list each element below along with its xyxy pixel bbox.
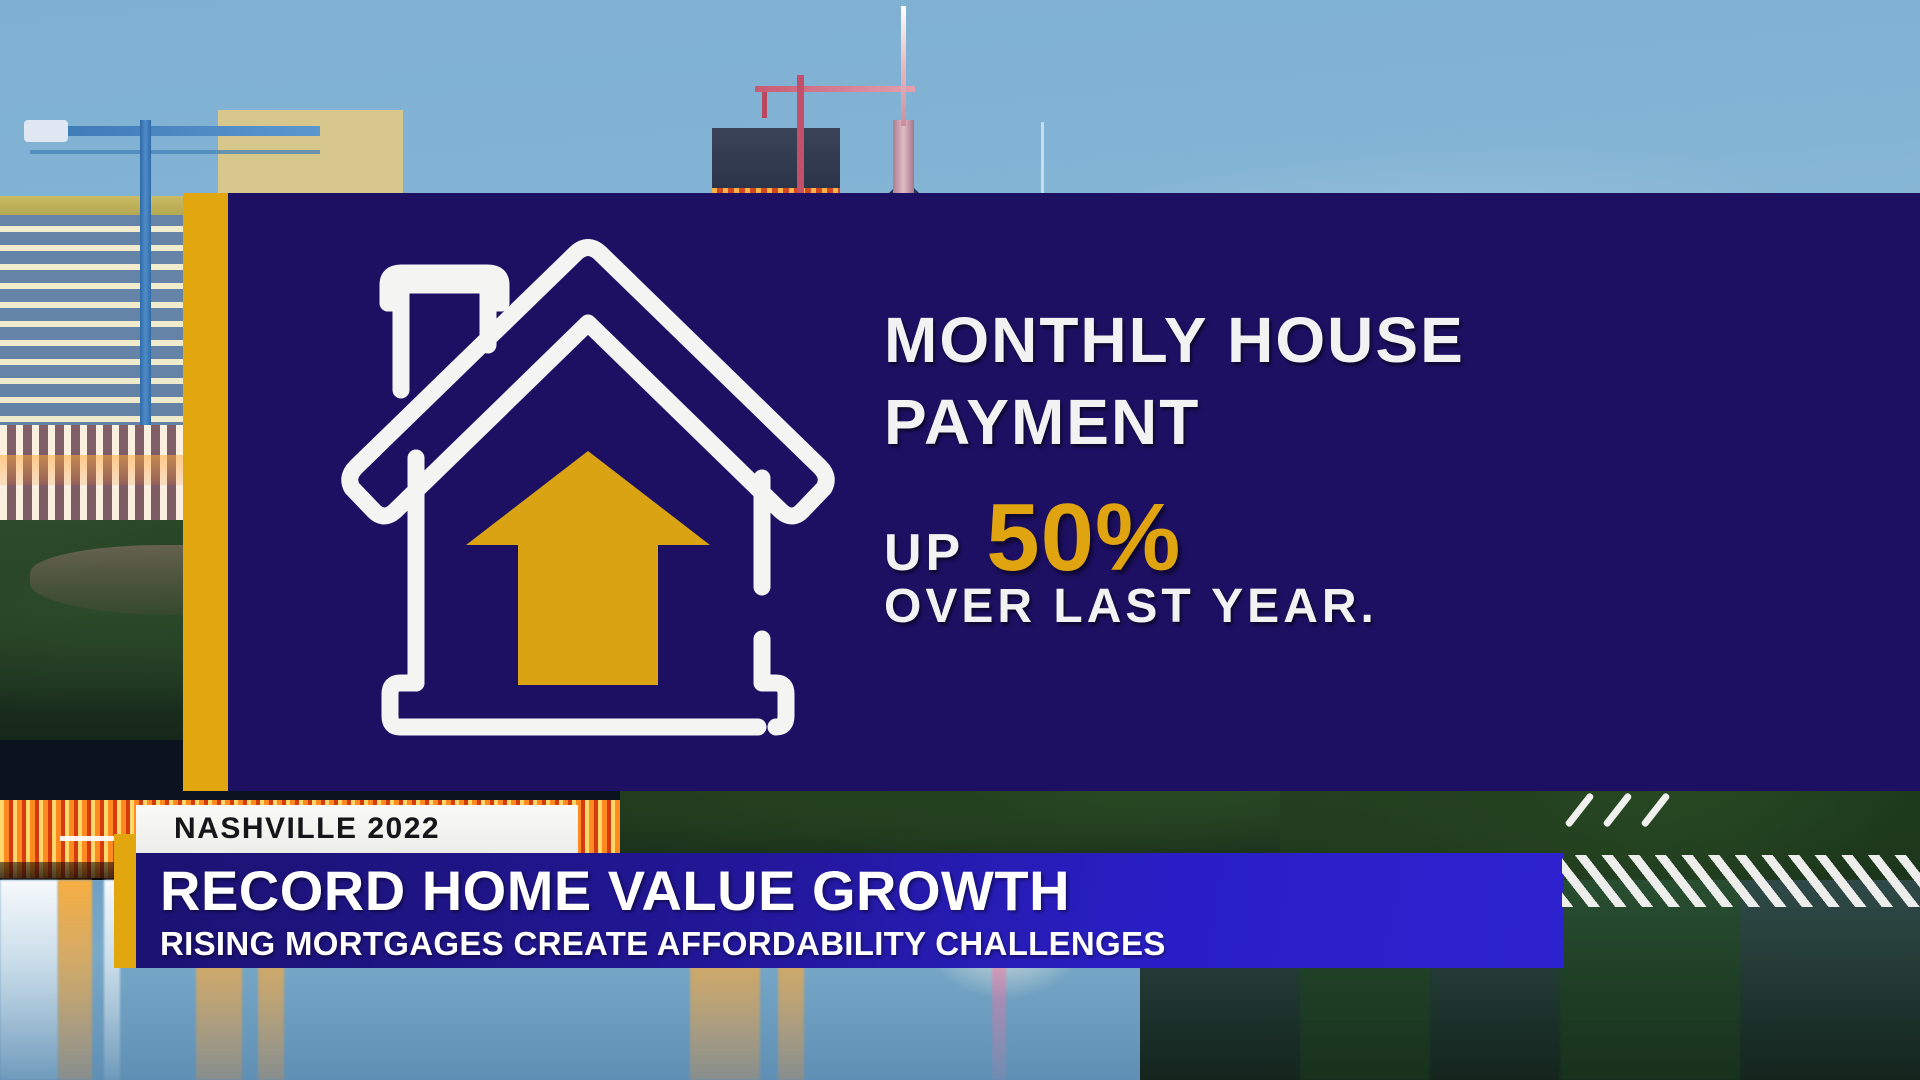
house-with-up-arrow-icon [338,215,838,775]
construction-crane-center-hook [762,92,767,118]
stat-value: 50% [986,492,1181,583]
stat-suffix: OVER LAST YEAR. [884,579,1884,634]
att-building-spire-shaft [893,120,914,200]
att-building-antenna-needle [901,6,906,126]
broadcast-graphic-stage: MONTHLY HOUSE PAYMENT UP 50% OVER LAST Y… [0,0,1920,1080]
headline-line-2: PAYMENT [884,382,1884,464]
location-tag-tab: NASHVILLE 2022 [136,805,578,853]
stat-row: UP 50% [884,492,1884,583]
river-reflection [0,880,58,1080]
diagonal-dash [1602,792,1632,828]
lower-third-gold-accent [114,834,136,968]
diagonal-dash-group [1570,790,1690,830]
construction-tower-frame [712,128,840,192]
location-tag-label: NASHVILLE 2022 [174,812,440,846]
headline-line-1: MONTHLY HOUSE [884,300,1884,382]
lower-third-title: RECORD HOME VALUE GROWTH [160,858,1070,923]
stat-prefix: UP [884,523,964,583]
diagonal-dash [1640,792,1670,828]
construction-crane-left-jib [30,126,320,136]
stat-text-block: MONTHLY HOUSE PAYMENT UP 50% OVER LAST Y… [884,300,1884,634]
construction-crane-left-jib-truss [30,150,320,154]
river-reflection [1560,880,1740,1080]
up-arrow-icon [466,451,710,685]
panel-gold-accent-bar [183,193,231,791]
diagonal-hatch-band [1562,855,1920,907]
lower-third-subtitle: RISING MORTGAGES CREATE AFFORDABILITY CH… [160,925,1166,963]
river-reflection [58,880,92,1080]
construction-crane-left-counterweight [24,120,68,142]
construction-crane-center-jib [755,86,915,92]
